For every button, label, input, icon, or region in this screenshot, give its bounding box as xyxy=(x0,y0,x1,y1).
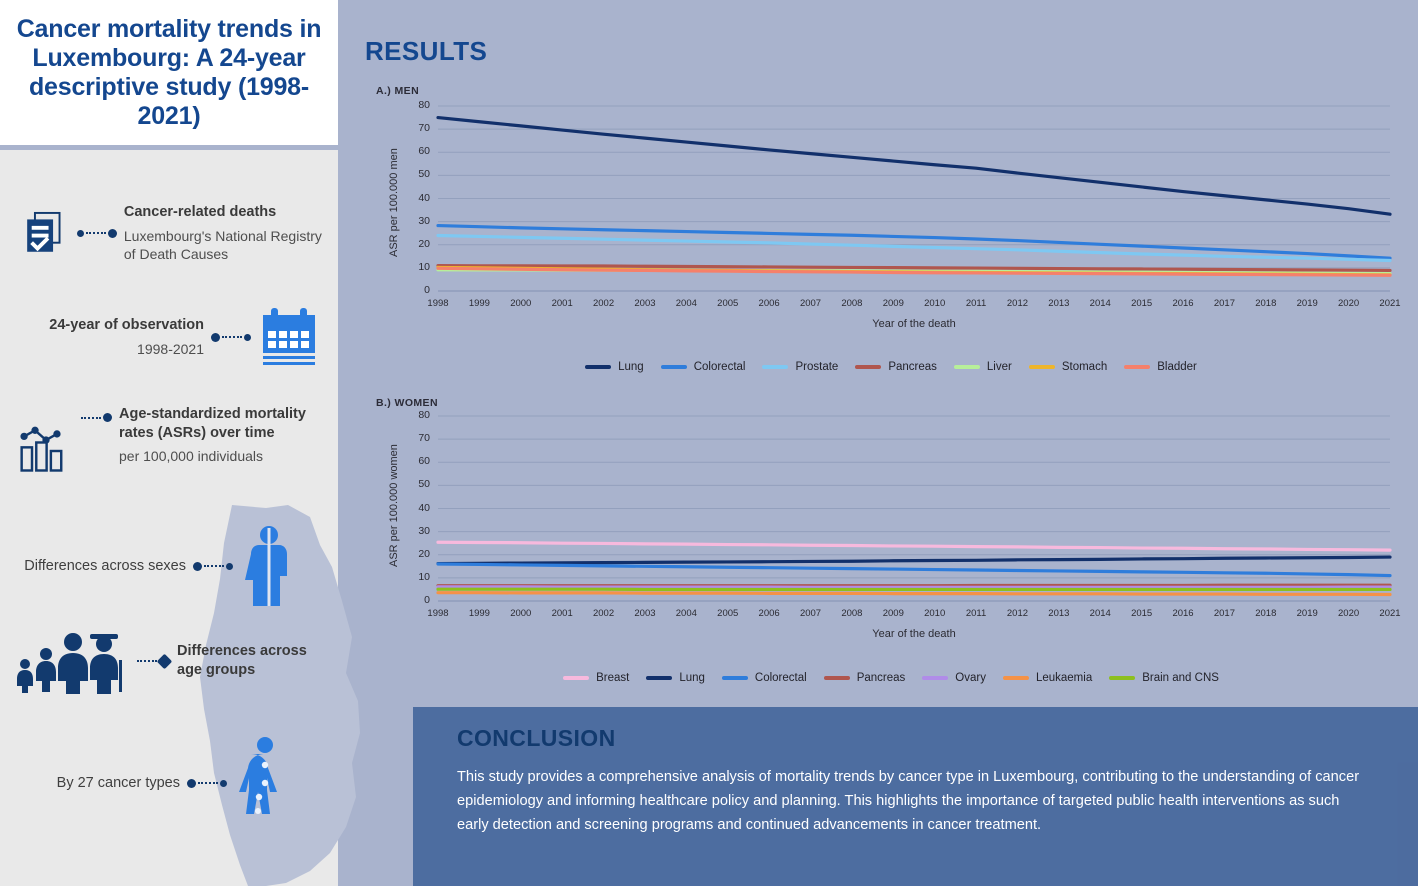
legend-label: Colorectal xyxy=(694,361,746,373)
x-tick-label: 2007 xyxy=(791,608,831,619)
x-tick-label: 2004 xyxy=(666,608,706,619)
legend-swatch xyxy=(1003,676,1029,680)
x-tick-label: 2014 xyxy=(1080,298,1120,309)
connector xyxy=(187,779,227,788)
x-tick-label: 2002 xyxy=(584,608,624,619)
series-line-lung xyxy=(438,557,1390,563)
x-tick-label: 2013 xyxy=(1039,298,1079,309)
x-tick-label: 2019 xyxy=(1287,608,1327,619)
x-tick-label: 2009 xyxy=(873,298,913,309)
legend-item[interactable]: Breast xyxy=(563,672,629,684)
y-tick-label: 80 xyxy=(408,409,430,421)
legend-label: Ovary xyxy=(955,672,986,684)
conclusion-body: This study provides a comprehensive anal… xyxy=(457,766,1374,837)
legend-swatch xyxy=(762,365,788,369)
fact-title: Differences across age groups xyxy=(177,642,327,679)
legend-swatch xyxy=(722,676,748,680)
x-tick-label: 2011 xyxy=(956,608,996,619)
page-title: Cancer mortality trends in Luxembourg: A… xyxy=(0,15,338,131)
legend-swatch xyxy=(1124,365,1150,369)
legend-swatch xyxy=(661,365,687,369)
x-tick-label: 2015 xyxy=(1122,298,1162,309)
y-tick-label: 50 xyxy=(408,478,430,490)
x-tick-label: 1998 xyxy=(418,298,458,309)
y-tick-label: 60 xyxy=(408,145,430,157)
fact-text: Differences across sexes xyxy=(10,557,186,576)
results-heading: RESULTS xyxy=(365,36,487,67)
fact-subtitle: Luxembourg's National Registry of Death … xyxy=(124,227,322,263)
fact-text: Cancer-related deaths Luxembourg's Natio… xyxy=(124,203,322,263)
calendar-icon xyxy=(258,306,320,368)
series-line-lung xyxy=(438,118,1390,215)
connector xyxy=(81,413,112,422)
x-tick-label: 2002 xyxy=(584,298,624,309)
legend-label: Stomach xyxy=(1062,361,1107,373)
y-axis-label: ASR per 100.000 men xyxy=(388,148,400,257)
sidebar-item-differences-across-sexes[interactable]: Differences across sexes xyxy=(10,524,330,608)
chart-men: 01020304050607080ASR per 100.000 men1998… xyxy=(376,100,1406,335)
y-tick-label: 20 xyxy=(408,548,430,560)
legend-item[interactable]: Leukaemia xyxy=(1003,672,1092,684)
fact-subtitle: 1998-2021 xyxy=(137,340,204,358)
legend-swatch xyxy=(824,676,850,680)
x-tick-label: 2014 xyxy=(1080,608,1120,619)
x-tick-label: 2003 xyxy=(625,608,665,619)
legend-item[interactable]: Colorectal xyxy=(722,672,807,684)
x-tick-label: 2012 xyxy=(997,298,1037,309)
legend-swatch xyxy=(563,676,589,680)
x-tick-label: 1998 xyxy=(418,608,458,619)
series-line-colorectal xyxy=(438,564,1390,576)
y-axis-label: ASR per 100.000 women xyxy=(388,444,400,567)
x-tick-label: 2015 xyxy=(1122,608,1162,619)
sidebar-item-differences-across-age-groups[interactable]: Differences across age groups xyxy=(12,628,328,694)
x-tick-label: 2006 xyxy=(749,608,789,619)
male-female-icon xyxy=(240,524,298,608)
x-tick-label: 2001 xyxy=(542,608,582,619)
y-tick-label: 30 xyxy=(408,215,430,227)
x-tick-label: 2016 xyxy=(1163,608,1203,619)
sidebar-item-cancer-related-deaths[interactable]: Cancer-related deaths Luxembourg's Natio… xyxy=(22,196,322,270)
x-tick-label: 2008 xyxy=(832,608,872,619)
sidebar-item-age-standardized-rates[interactable]: Age-standardized mortality rates (ASRs) … xyxy=(18,405,330,491)
legend-label: Pancreas xyxy=(857,672,906,684)
y-tick-label: 50 xyxy=(408,168,430,180)
chart-women: 01020304050607080ASR per 100.000 women19… xyxy=(376,410,1406,645)
x-tick-label: 2010 xyxy=(915,608,955,619)
age-groups-icon xyxy=(12,628,130,694)
y-tick-label: 60 xyxy=(408,455,430,467)
bar-line-chart-icon xyxy=(18,411,74,491)
fact-text: Age-standardized mortality rates (ASRs) … xyxy=(119,405,330,465)
legend-label: Breast xyxy=(596,672,629,684)
x-axis-label: Year of the death xyxy=(438,318,1390,330)
infographic-poster: Cancer mortality trends in Luxembourg: A… xyxy=(0,0,1418,886)
legend-swatch xyxy=(922,676,948,680)
x-tick-label: 2010 xyxy=(915,298,955,309)
series-line-colorectal xyxy=(438,226,1390,259)
legend-item[interactable]: Colorectal xyxy=(661,361,746,373)
x-tick-label: 2018 xyxy=(1246,298,1286,309)
legend-item[interactable]: Stomach xyxy=(1029,361,1107,373)
connector xyxy=(137,656,170,667)
x-tick-label: 2018 xyxy=(1246,608,1286,619)
x-tick-label: 2004 xyxy=(666,298,706,309)
x-tick-label: 2003 xyxy=(625,298,665,309)
x-tick-label: 1999 xyxy=(459,608,499,619)
legend-label: Brain and CNS xyxy=(1142,672,1219,684)
y-tick-label: 40 xyxy=(408,502,430,514)
y-tick-label: 80 xyxy=(408,99,430,111)
legend-swatch xyxy=(855,365,881,369)
panel-a-tag: A.) MEN xyxy=(376,85,419,97)
x-tick-label: 2017 xyxy=(1204,298,1244,309)
fact-text: By 27 cancer types xyxy=(30,774,180,793)
y-tick-label: 0 xyxy=(408,594,430,606)
fact-text: 24-year of observation 1998-2021 xyxy=(14,316,204,358)
legend-swatch xyxy=(646,676,672,680)
fact-text: Differences across age groups xyxy=(177,642,327,679)
x-axis-label: Year of the death xyxy=(438,628,1390,640)
x-tick-label: 2021 xyxy=(1370,608,1410,619)
x-tick-label: 2016 xyxy=(1163,298,1203,309)
x-tick-label: 2000 xyxy=(501,298,541,309)
series-line-leukaemia xyxy=(438,593,1390,595)
legend-swatch xyxy=(954,365,980,369)
legend-item[interactable]: Pancreas xyxy=(824,672,906,684)
x-tick-label: 2006 xyxy=(749,298,789,309)
legend-label: Liver xyxy=(987,361,1012,373)
connector xyxy=(211,333,251,342)
y-tick-label: 70 xyxy=(408,122,430,134)
series-line-breast xyxy=(438,542,1390,550)
legend-label: Bladder xyxy=(1157,361,1197,373)
y-tick-label: 70 xyxy=(408,432,430,444)
fact-title: Age-standardized mortality rates (ASRs) … xyxy=(119,405,330,442)
x-tick-label: 2019 xyxy=(1287,298,1327,309)
x-tick-label: 2005 xyxy=(708,298,748,309)
legend-swatch xyxy=(585,365,611,369)
fact-title: By 27 cancer types xyxy=(57,774,180,793)
x-tick-label: 2011 xyxy=(956,298,996,309)
x-tick-label: 2013 xyxy=(1039,608,1079,619)
y-tick-label: 30 xyxy=(408,525,430,537)
x-tick-label: 2009 xyxy=(873,608,913,619)
x-tick-label: 2005 xyxy=(708,608,748,619)
sidebar-item-24-year-observation[interactable]: 24-year of observation 1998-2021 xyxy=(14,306,326,368)
chart-women-legend: BreastLungColorectalPancreasOvaryLeukaem… xyxy=(376,666,1406,690)
legend-item[interactable]: Lung xyxy=(646,672,705,684)
fact-subtitle: per 100,000 individuals xyxy=(119,447,330,465)
legend-label: Lung xyxy=(618,361,644,373)
legend-item[interactable]: Pancreas xyxy=(855,361,937,373)
y-tick-label: 10 xyxy=(408,571,430,583)
legend-item[interactable]: Bladder xyxy=(1124,361,1197,373)
legend-swatch xyxy=(1029,365,1055,369)
y-tick-label: 40 xyxy=(408,192,430,204)
y-tick-label: 10 xyxy=(408,261,430,273)
poster-title-card: Cancer mortality trends in Luxembourg: A… xyxy=(0,0,338,145)
legend-item[interactable]: Ovary xyxy=(922,672,986,684)
document-check-icon xyxy=(22,196,70,270)
legend-item[interactable]: Liver xyxy=(954,361,1012,373)
chart-men-legend: LungColorectalProstatePancreasLiverStoma… xyxy=(376,355,1406,379)
x-tick-label: 2007 xyxy=(791,298,831,309)
conclusion-panel: CONCLUSION This study provides a compreh… xyxy=(413,707,1418,886)
y-tick-label: 0 xyxy=(408,284,430,296)
x-tick-label: 2021 xyxy=(1370,298,1410,309)
legend-label: Prostate xyxy=(795,361,838,373)
sidebar-item-27-cancer-types[interactable]: By 27 cancer types xyxy=(30,735,330,831)
x-tick-label: 2001 xyxy=(542,298,582,309)
series-line-prostate xyxy=(438,236,1390,261)
x-tick-label: 2008 xyxy=(832,298,872,309)
x-tick-label: 2020 xyxy=(1329,608,1369,619)
connector xyxy=(77,229,117,238)
legend-item[interactable]: Brain and CNS xyxy=(1109,672,1219,684)
x-tick-label: 2020 xyxy=(1329,298,1369,309)
legend-label: Lung xyxy=(679,672,705,684)
legend-label: Colorectal xyxy=(755,672,807,684)
x-tick-label: 1999 xyxy=(459,298,499,309)
fact-title: Cancer-related deaths xyxy=(124,203,322,222)
x-tick-label: 2017 xyxy=(1204,608,1244,619)
panel-b-tag: B.) WOMEN xyxy=(376,397,438,409)
legend-item[interactable]: Lung xyxy=(585,361,644,373)
legend-label: Pancreas xyxy=(888,361,937,373)
human-body-icon xyxy=(234,735,296,831)
conclusion-heading: CONCLUSION xyxy=(457,725,1374,752)
legend-item[interactable]: Prostate xyxy=(762,361,838,373)
x-tick-label: 2012 xyxy=(997,608,1037,619)
legend-swatch xyxy=(1109,676,1135,680)
connector xyxy=(193,562,233,571)
y-tick-label: 20 xyxy=(408,238,430,250)
x-tick-label: 2000 xyxy=(501,608,541,619)
fact-title: Differences across sexes xyxy=(24,557,186,576)
legend-label: Leukaemia xyxy=(1036,672,1092,684)
fact-title: 24-year of observation xyxy=(49,316,204,335)
